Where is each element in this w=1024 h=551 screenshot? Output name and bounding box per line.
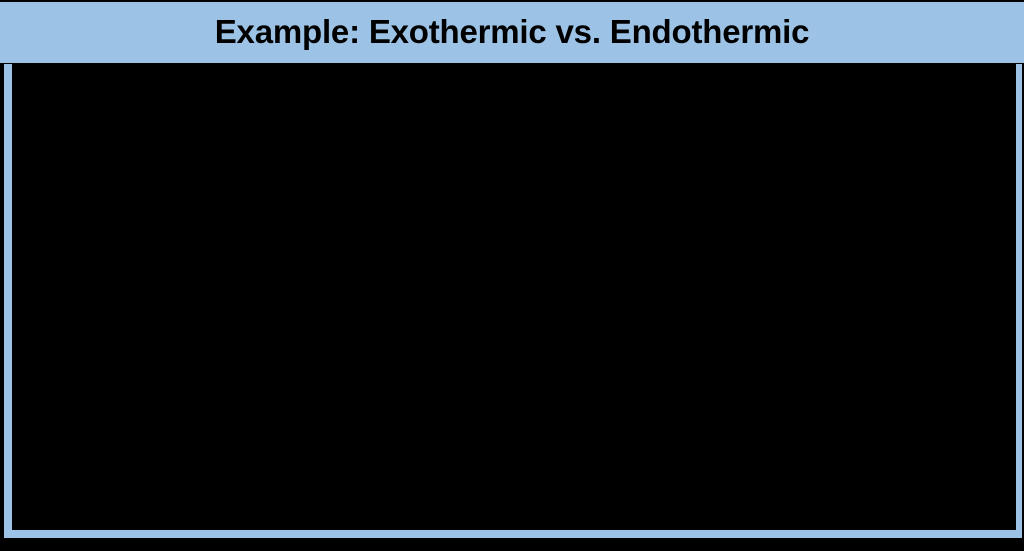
- slide-title-bar: Example: Exothermic vs. Endothermic: [0, 2, 1024, 63]
- slide-content-text: [12, 64, 1016, 530]
- slide-canvas: Example: Exothermic vs. Endothermic: [0, 0, 1024, 551]
- canvas-edge-left: [0, 64, 4, 538]
- canvas-edge-bottom: [0, 538, 1024, 551]
- slide-content-frame: [4, 64, 1022, 538]
- slide-content-body[interactable]: [12, 64, 1016, 530]
- slide-title: Example: Exothermic vs. Endothermic: [215, 15, 810, 50]
